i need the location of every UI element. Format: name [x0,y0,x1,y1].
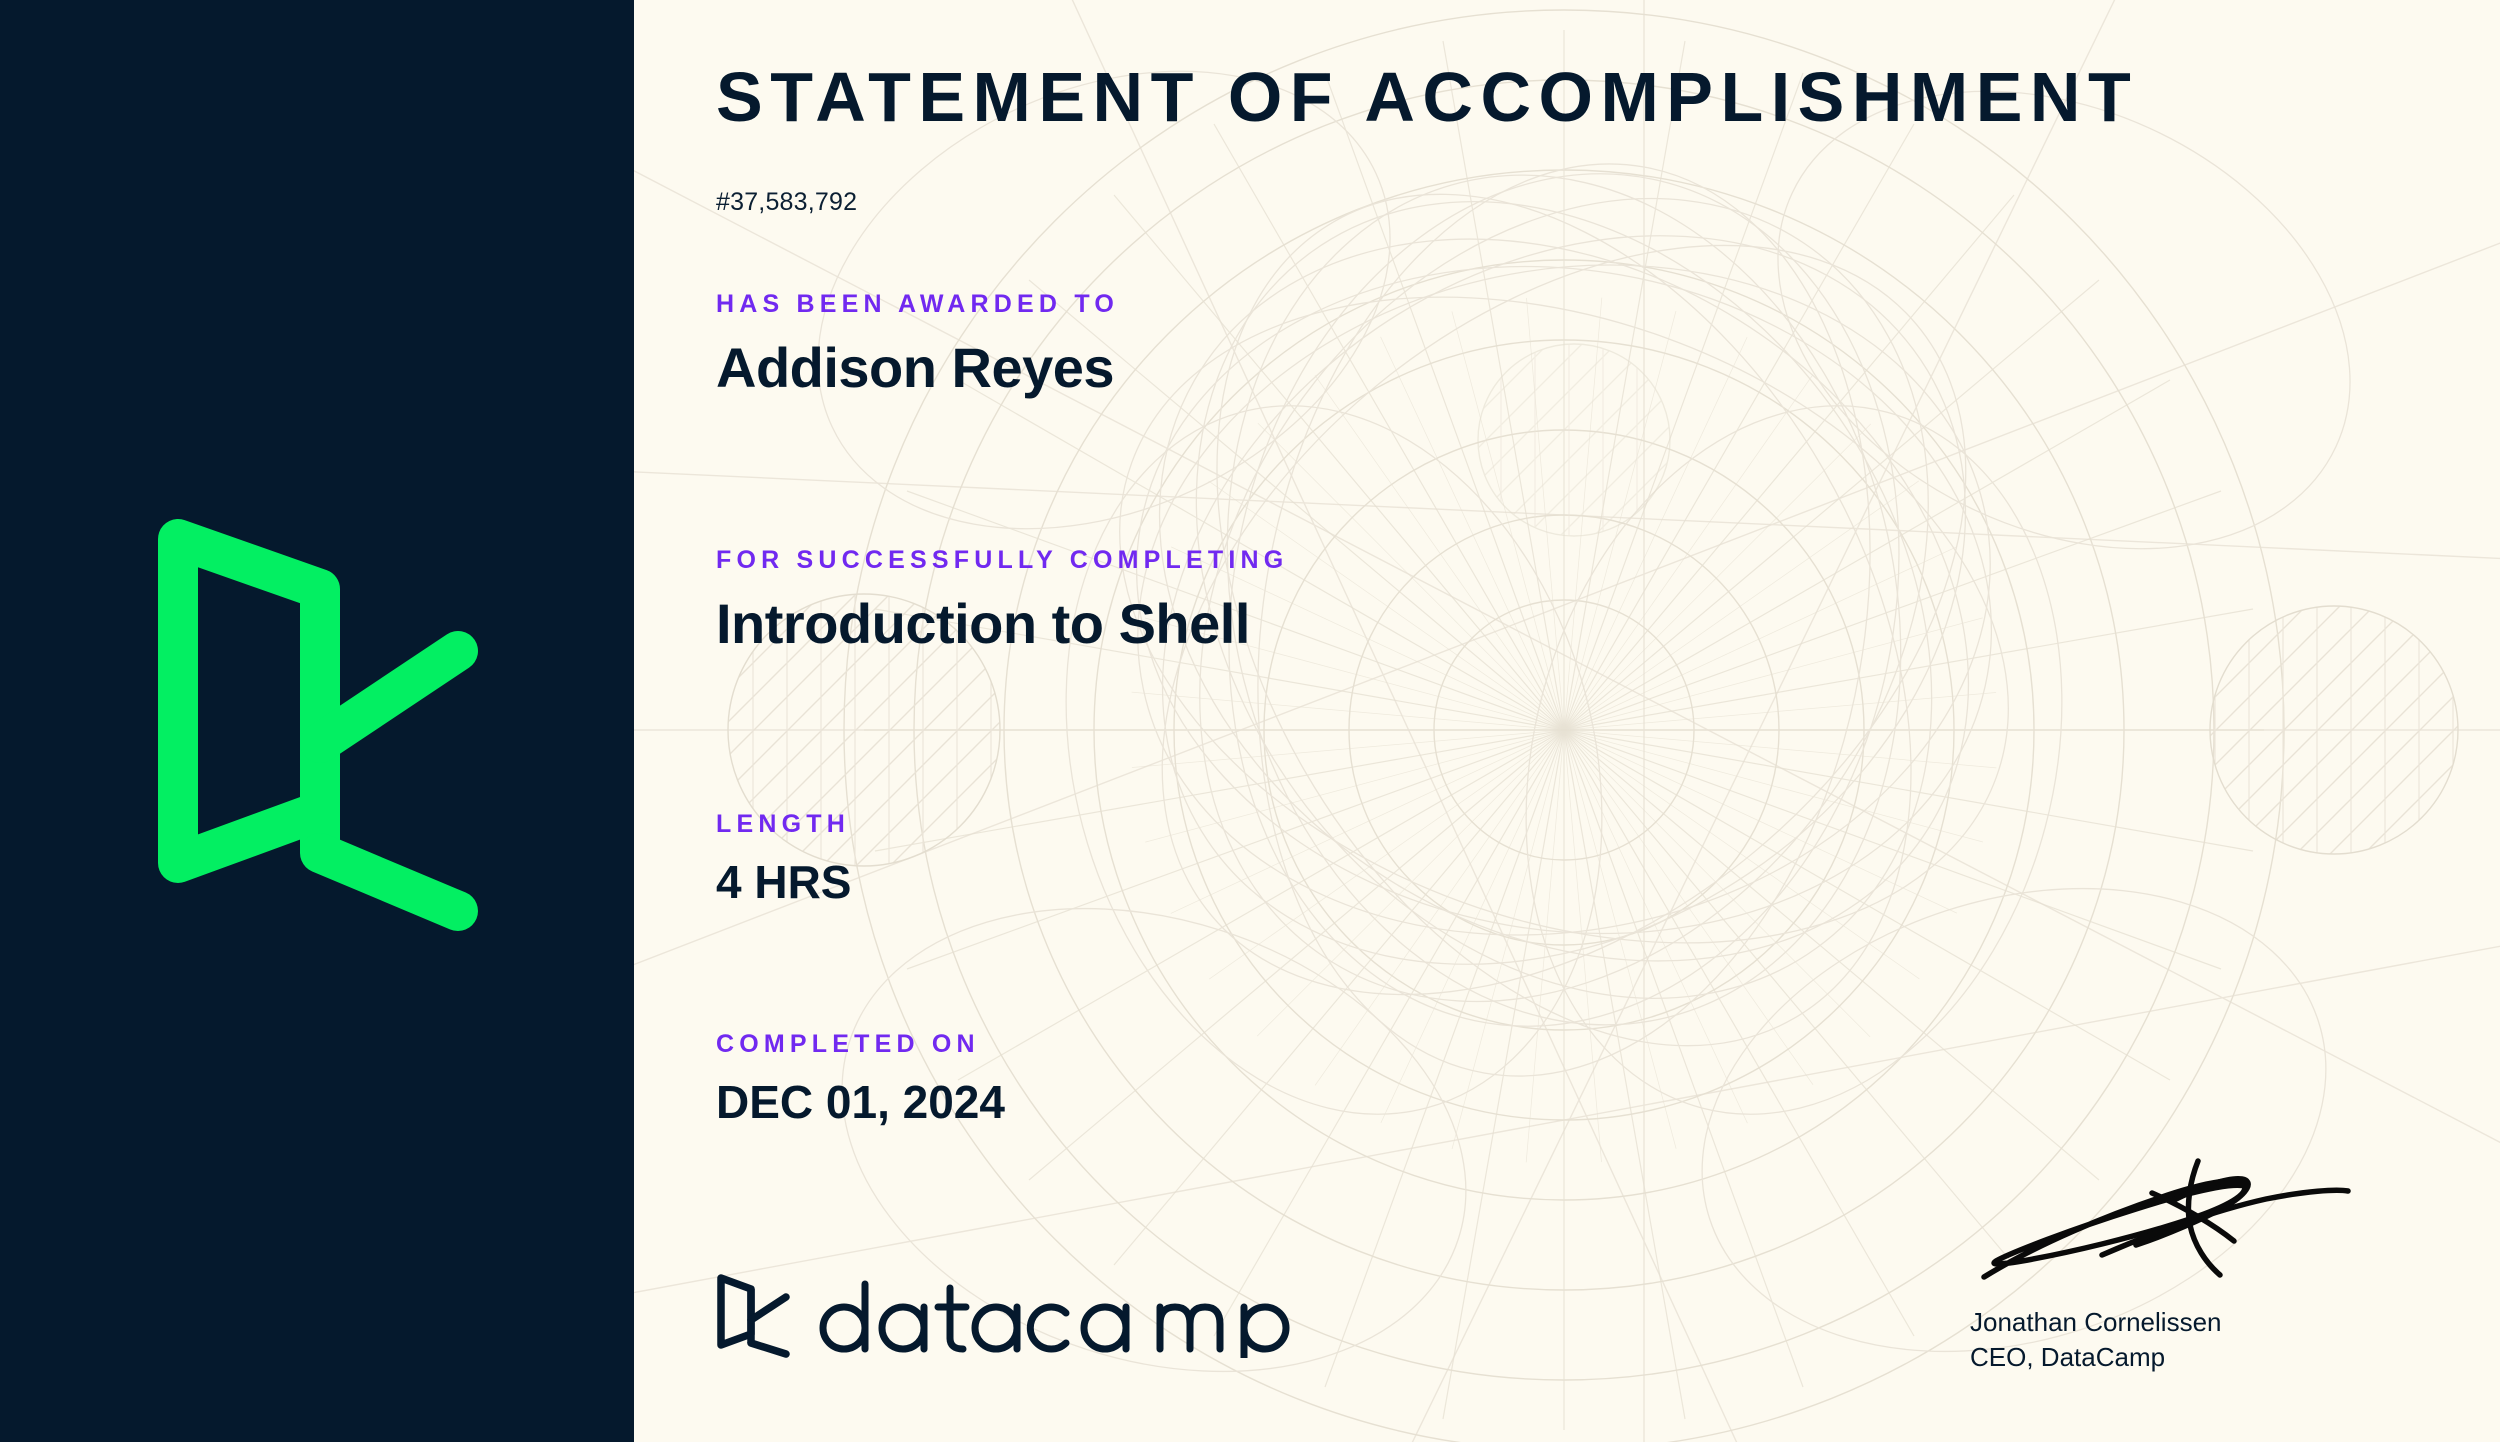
datacamp-wordmark [818,1272,1148,1358]
field-awarded-to: HAS BEEN AWARDED TO Addison Reyes [716,292,1119,397]
field-course: FOR SUCCESSFULLY COMPLETING Introduction… [716,548,1288,653]
course-length: 4 HRS [716,859,851,907]
handwritten-signature-icon [1976,1149,2356,1299]
certificate-number: #37,583,792 [716,188,857,217]
field-label-course: FOR SUCCESSFULLY COMPLETING [716,548,1288,573]
field-completed-on: COMPLETED ON DEC 01, 2024 [716,1032,1005,1127]
field-label-completed-on: COMPLETED ON [716,1032,1005,1057]
course-name: Introduction to Shell [716,595,1288,653]
recipient-name: Addison Reyes [716,339,1119,397]
certificate-content: STATEMENT OF ACCOMPLISHMENT #37,583,792 … [634,0,2500,1442]
sidebar-brand-panel [0,0,634,1442]
field-label-awarded-to: HAS BEEN AWARDED TO [716,292,1119,317]
field-label-length: LENGTH [716,812,851,837]
completion-date: DEC 01, 2024 [716,1079,1005,1127]
signature-block: Jonathan Cornelissen CEO, DataCamp [1970,1149,2390,1374]
datacamp-logo-icon [152,511,482,931]
datacamp-mark-icon [716,1272,792,1358]
signatory-role: CEO, DataCamp [1970,1340,2390,1374]
datacamp-brand-lockup [716,1272,1302,1358]
field-length: LENGTH 4 HRS [716,812,851,907]
certificate: STATEMENT OF ACCOMPLISHMENT #37,583,792 … [0,0,2500,1442]
datacamp-wordmark-tail [1152,1272,1302,1358]
certificate-body: STATEMENT OF ACCOMPLISHMENT #37,583,792 … [634,0,2500,1442]
signatory-name: Jonathan Cornelissen [1970,1305,2390,1339]
page-title: STATEMENT OF ACCOMPLISHMENT [716,62,2138,132]
